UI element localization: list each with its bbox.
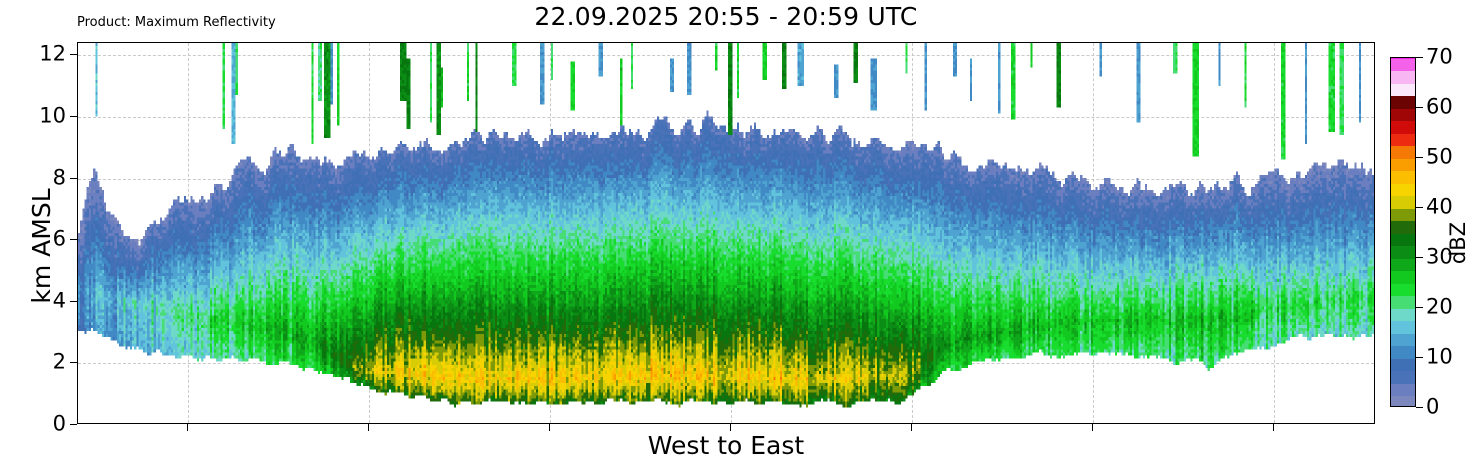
colorbar-tick-mark bbox=[1416, 407, 1423, 408]
colorbar-tick-mark bbox=[1416, 257, 1423, 258]
colorbar-tick-mark bbox=[1416, 57, 1423, 58]
colorbar-tick-mark bbox=[1416, 307, 1423, 308]
colorbar-ticks: 010203040506070 bbox=[0, 0, 1482, 470]
radar-cross-section-figure: 22.09.2025 20:55 - 20:59 UTC Product: Ma… bbox=[0, 0, 1482, 470]
colorbar-tick-label: 50 bbox=[1426, 147, 1453, 168]
colorbar-tick-mark bbox=[1416, 207, 1423, 208]
colorbar-tick-mark bbox=[1416, 107, 1423, 108]
colorbar-tick-mark bbox=[1416, 357, 1423, 358]
colorbar-tick-mark bbox=[1416, 157, 1423, 158]
colorbar-title: dBZ bbox=[1447, 183, 1469, 303]
colorbar-tick-label: 70 bbox=[1426, 47, 1453, 68]
colorbar-tick-label: 60 bbox=[1426, 97, 1453, 118]
colorbar-tick-label: 10 bbox=[1426, 347, 1453, 368]
colorbar-tick-label: 0 bbox=[1426, 397, 1439, 418]
